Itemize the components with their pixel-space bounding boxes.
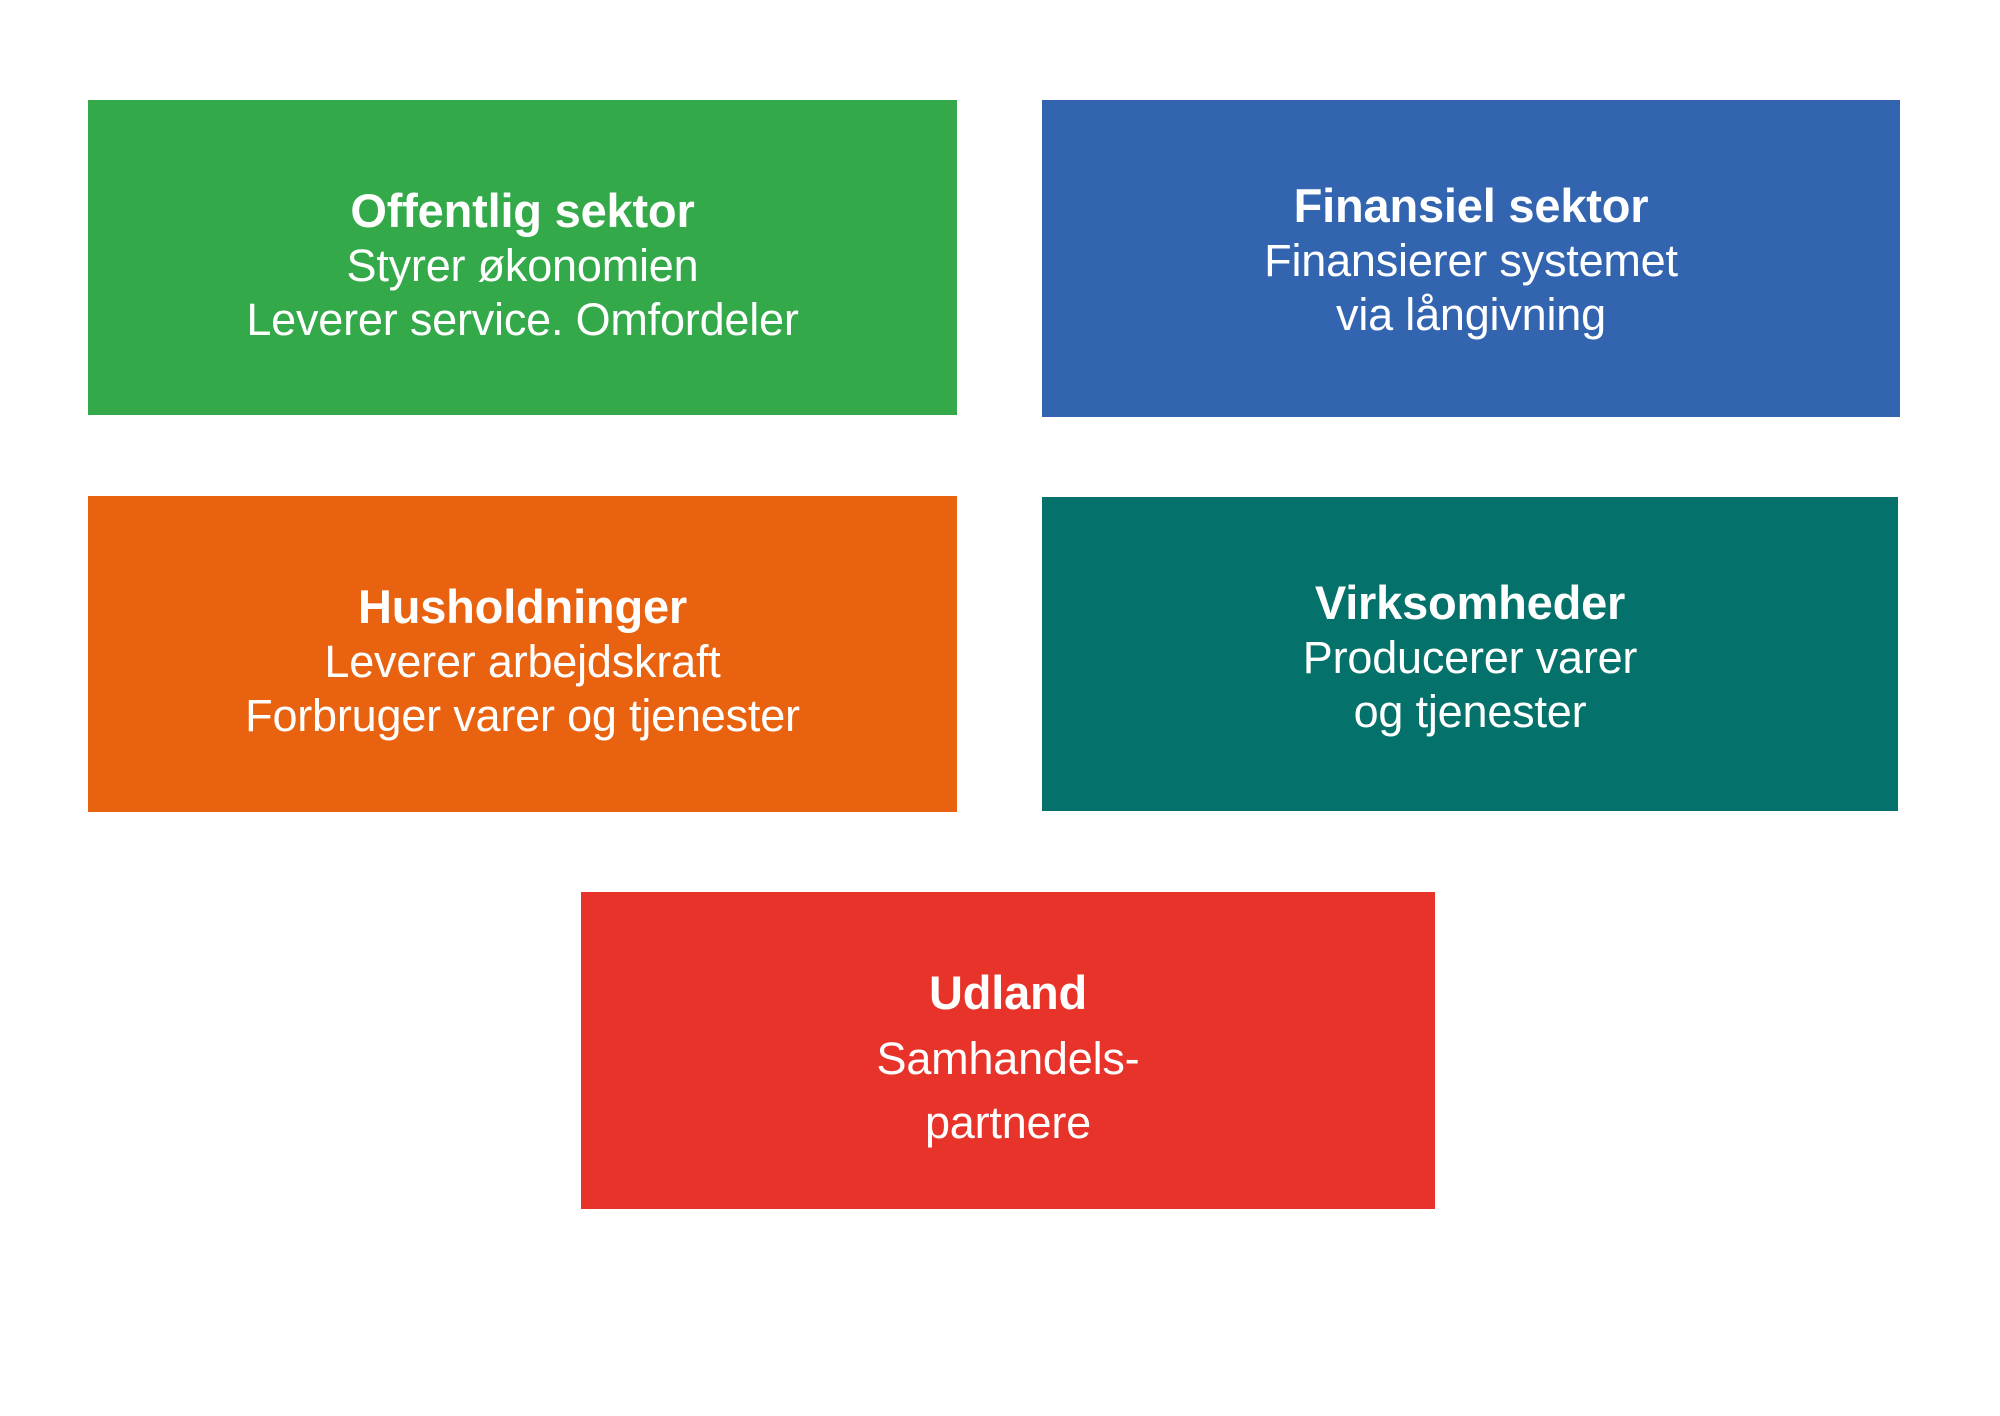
box-udland[interactable]: Udland Samhandels- partnere [581,892,1435,1209]
box-title-udland: Udland [929,966,1087,1021]
box-title-finansiel-sektor: Finansiel sektor [1294,179,1649,234]
box-line-udland-2: partnere [925,1091,1091,1155]
box-title-offentlig-sektor: Offentlig sektor [350,184,694,239]
box-offentlig-sektor[interactable]: Offentlig sektor Styrer økonomien Levere… [88,100,957,415]
box-line-finansiel-sektor-2: via långivning [1336,288,1606,342]
box-line-husholdninger-2: Forbruger varer og tjenester [245,689,800,743]
box-text-stack: Offentlig sektor Styrer økonomien Levere… [246,184,798,348]
box-line-virksomheder-2: og tjenester [1354,685,1587,739]
box-finansiel-sektor[interactable]: Finansiel sektor Finansierer systemet vi… [1042,100,1900,417]
box-title-virksomheder: Virksomheder [1315,576,1625,631]
box-line-virksomheder-1: Producerer varer [1303,631,1637,685]
box-line-offentlig-sektor-1: Styrer økonomien [347,239,699,293]
box-title-husholdninger: Husholdninger [358,580,687,635]
box-line-offentlig-sektor-2: Leverer service. Omfordeler [246,293,798,347]
box-text-stack: Virksomheder Producerer varer og tjenest… [1303,576,1637,740]
box-husholdninger[interactable]: Husholdninger Leverer arbejdskraft Forbr… [88,496,957,812]
box-text-stack: Husholdninger Leverer arbejdskraft Forbr… [245,580,800,744]
box-text-stack: Finansiel sektor Finansierer systemet vi… [1264,179,1678,343]
box-virksomheder[interactable]: Virksomheder Producerer varer og tjenest… [1042,497,1898,811]
box-line-finansiel-sektor-1: Finansierer systemet [1264,234,1678,288]
box-text-stack: Udland Samhandels- partnere [877,966,1140,1155]
diagram-canvas: Offentlig sektor Styrer økonomien Levere… [0,0,2000,1416]
box-line-udland-1: Samhandels- [877,1027,1140,1091]
box-line-husholdninger-1: Leverer arbejdskraft [324,635,720,689]
